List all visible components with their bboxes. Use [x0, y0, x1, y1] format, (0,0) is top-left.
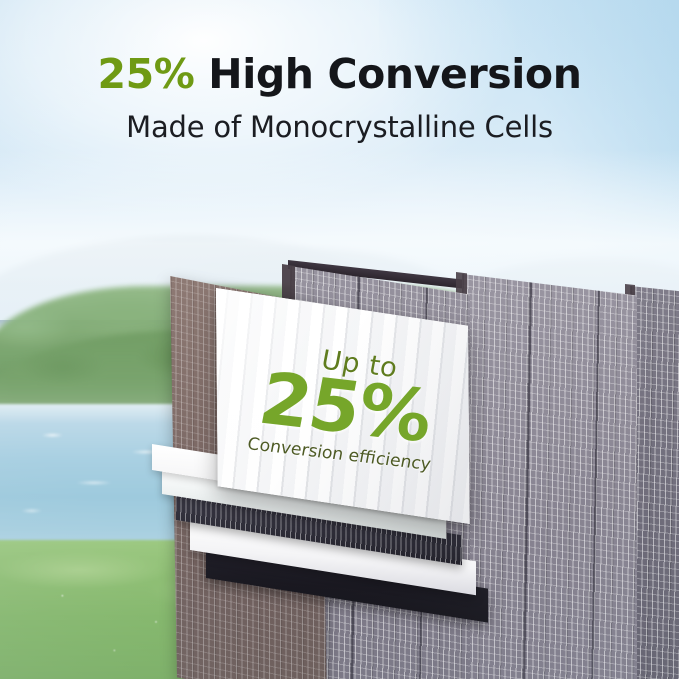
card-text-group: Up to 25% Conversion efficiency [216, 292, 470, 519]
page-title: 25% High Conversion [0, 52, 679, 96]
headline-rest: High Conversion [194, 50, 581, 98]
headline-accent: 25% [97, 50, 194, 98]
page-subtitle: Made of Monocrystalline Cells [0, 110, 679, 144]
solar-panel-array: Up to 25% Conversion efficiency [170, 258, 679, 679]
marketing-banner: Up to 25% Conversion efficiency 25% High… [0, 0, 679, 679]
efficiency-callout-card: Up to 25% Conversion efficiency [216, 288, 470, 524]
headline-block: 25% High Conversion Made of Monocrystall… [0, 52, 679, 144]
exploded-layer-stack: Up to 25% Conversion efficiency [170, 258, 679, 679]
